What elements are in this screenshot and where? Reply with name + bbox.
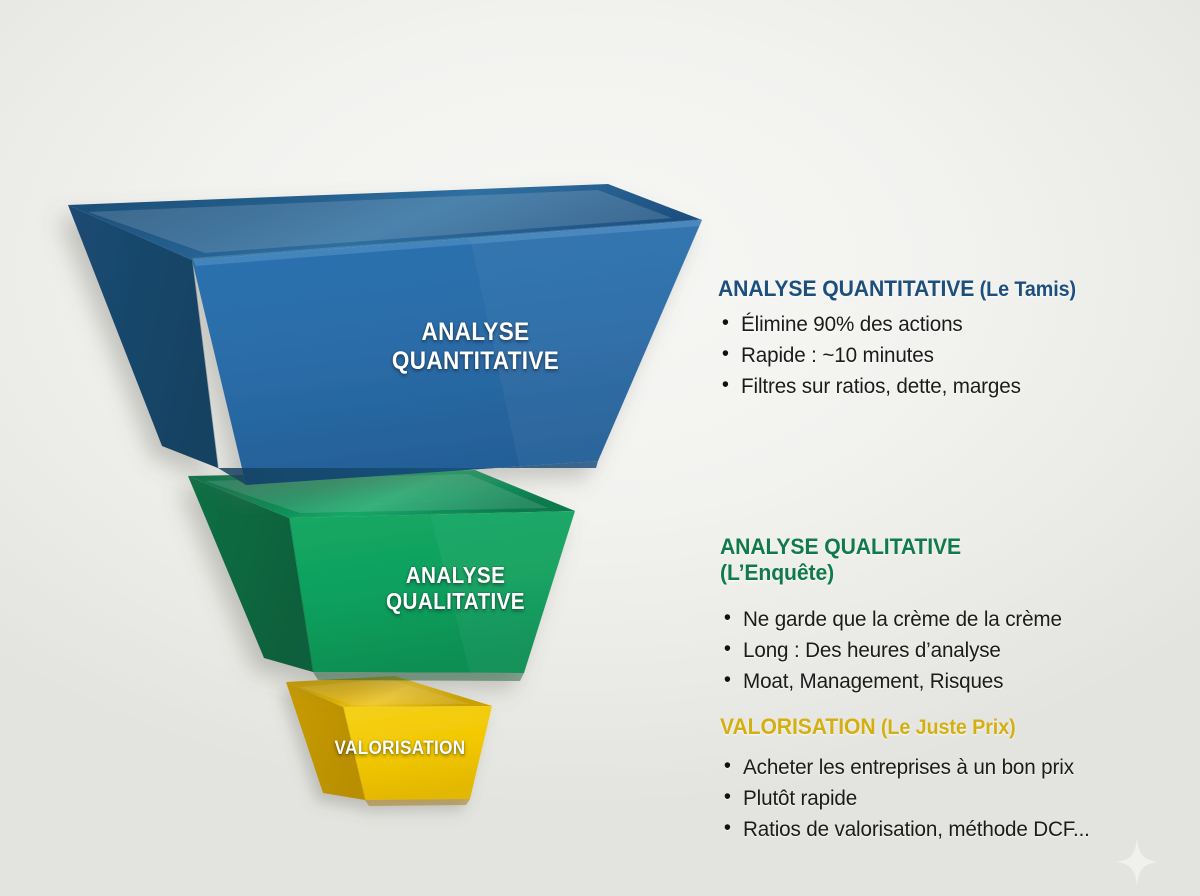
list-item: Long : Des heures d’analyse [720,635,1062,666]
list-item: Ne garde que la crème de la crème [720,604,1062,635]
annotation-group-quantitative: ANALYSE QUANTITATIVE (Le Tamis) Élimine … [718,276,1099,402]
bullet-list-quantitative: Élimine 90% des actions Rapide : ~10 min… [718,309,1099,402]
list-item: Filtres sur ratios, dette, marges [718,371,1084,402]
bullet-list-valorisation: Acheter les entreprises à un bon prix Pl… [720,752,1105,845]
funnel-tier-valorisation[interactable] [286,676,492,806]
list-item: Acheter les entreprises à un bon prix [720,752,1090,783]
funnel-diagram [0,0,740,896]
list-item: Moat, Management, Risques [720,666,1062,697]
bullet-list-qualitative: Ne garde que la crème de la crème Long :… [720,604,1076,697]
list-item: Élimine 90% des actions [718,309,1084,340]
heading-qualitative: ANALYSE QUALITATIVE (L’Enquête) [720,534,1055,586]
funnel-tier-qualitative[interactable] [188,470,575,681]
list-item: Plutôt rapide [720,783,1090,814]
heading-valorisation: VALORISATION (Le Juste Prix) [720,714,1082,740]
slide-canvas: ANALYSE QUANTITATIVE ANALYSE QUALITATIVE… [0,0,1200,896]
funnel-tier-quantitative[interactable] [68,184,702,485]
annotation-group-valorisation: VALORISATION (Le Juste Prix) Acheter les… [720,714,1105,845]
list-item: Ratios de valorisation, méthode DCF... [720,814,1090,845]
heading-quantitative: ANALYSE QUANTITATIVE (Le Tamis) [718,276,1076,302]
list-item: Rapide : ~10 minutes [718,340,1084,371]
sparkle-icon [1116,838,1158,886]
tier-valorisation-front [343,706,492,800]
annotation-group-qualitative: ANALYSE QUALITATIVE (L’Enquête) Ne garde… [720,534,1076,697]
